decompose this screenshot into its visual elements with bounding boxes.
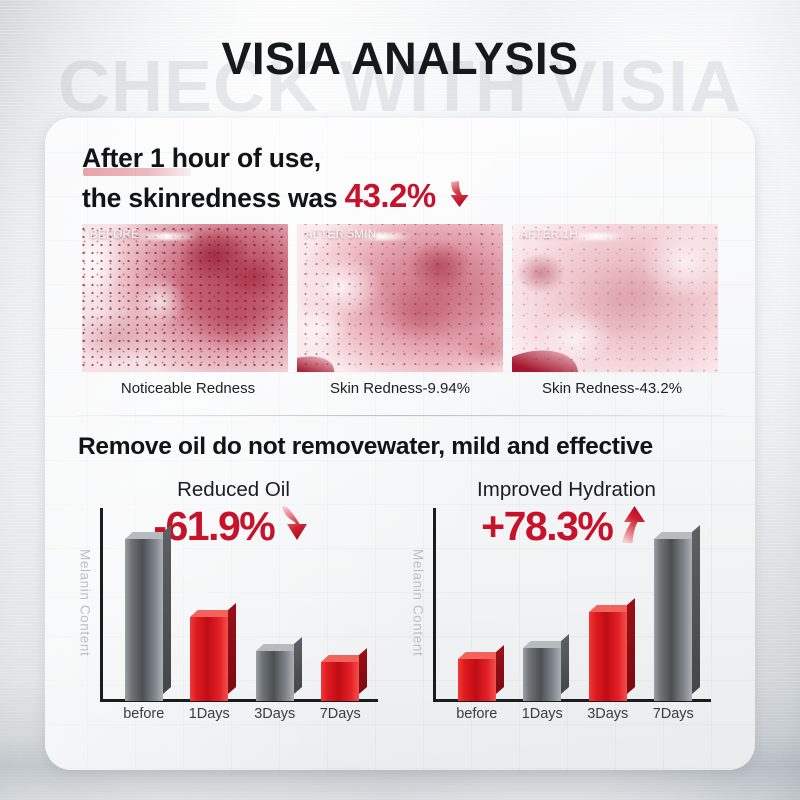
section-divider bbox=[77, 415, 725, 416]
chart-y-axis-label: Melanin Content bbox=[410, 514, 426, 692]
visia-panel-badge: AFTER 1H bbox=[520, 229, 578, 241]
chart-bar-side bbox=[359, 648, 367, 694]
visia-caption-after-1h: Skin Redness-43.2% bbox=[506, 380, 718, 397]
chart-x-tick-labels: before1Days3Days7Days bbox=[111, 706, 373, 722]
chart-x-tick-label: 3Days bbox=[247, 706, 303, 722]
visia-caption-before: Noticeable Redness bbox=[82, 380, 294, 397]
chart-bar-side bbox=[496, 645, 504, 694]
chart-bar-slot bbox=[247, 508, 303, 701]
visia-panel-before[interactable]: BEFORE bbox=[82, 224, 288, 372]
chart-improved-hydration: Improved Hydration +78.3% bbox=[400, 478, 733, 748]
chart-x-tick-labels: before1Days3Days7Days bbox=[444, 706, 706, 722]
chart-y-axis-line bbox=[433, 508, 436, 701]
chart-bar-face bbox=[654, 539, 692, 701]
visia-panel-after-1h[interactable]: AFTER 1H bbox=[512, 224, 718, 372]
chart-bars-group bbox=[111, 508, 373, 701]
chart-bar-face bbox=[589, 612, 627, 701]
chart-bar bbox=[523, 648, 561, 701]
sub-headline: Remove oil do not removewater, mild and … bbox=[78, 433, 653, 461]
skin-redness-after-1h-image bbox=[512, 224, 718, 372]
chart-bar-face bbox=[523, 648, 561, 701]
chart-bar-side bbox=[228, 603, 236, 694]
chart-x-tick-label: 1Days bbox=[181, 706, 237, 722]
visia-panel-after-5min[interactable]: AFTER 5MIN bbox=[297, 224, 503, 372]
skin-redness-after-5min-image bbox=[297, 224, 503, 372]
chart-bar-side bbox=[692, 525, 700, 694]
chart-bar-face bbox=[321, 662, 359, 701]
chart-reduced-oil: Reduced Oil -61.9% bbox=[67, 478, 400, 748]
headline-percent-value: 43.2% bbox=[345, 177, 436, 214]
chart-plot-area: Melanin Content before1Days3Days7Days bbox=[67, 506, 400, 748]
skin-speckle-layer bbox=[82, 224, 288, 372]
chart-bar bbox=[458, 659, 496, 701]
visia-panel-badge: AFTER 5MIN bbox=[305, 229, 376, 241]
chart-bar-side bbox=[294, 637, 302, 694]
chart-x-tick-label: before bbox=[449, 706, 505, 722]
chart-bar-face bbox=[458, 659, 496, 701]
chart-bar bbox=[190, 617, 228, 701]
chart-x-tick-label: 7Days bbox=[312, 706, 368, 722]
chart-title: Improved Hydration bbox=[400, 478, 733, 502]
chart-y-axis-line bbox=[100, 508, 103, 701]
chart-bar bbox=[589, 612, 627, 701]
chart-bar-face bbox=[190, 617, 228, 701]
chart-bar-slot bbox=[312, 508, 368, 701]
skin-speckle-layer bbox=[297, 224, 503, 372]
chart-bar bbox=[321, 662, 359, 701]
headline-block: After 1 hour of use, the skinredness was… bbox=[82, 141, 722, 219]
visia-caption-after-5min: Skin Redness-9.94% bbox=[294, 380, 506, 397]
chart-bar-face bbox=[256, 651, 294, 701]
chart-x-tick-label: before bbox=[116, 706, 172, 722]
chart-x-tick-label: 3Days bbox=[580, 706, 636, 722]
visia-captions-row: Noticeable Redness Skin Redness-9.94% Sk… bbox=[82, 380, 718, 397]
chart-bar-slot bbox=[514, 508, 570, 701]
headline-line-2-text: the skinredness was bbox=[82, 183, 337, 213]
chart-x-tick-label: 1Days bbox=[514, 706, 570, 722]
chart-bar-face bbox=[125, 539, 163, 701]
chart-title: Reduced Oil bbox=[67, 478, 400, 502]
visia-panel-badge: BEFORE bbox=[90, 229, 139, 241]
headline-line-2: the skinredness was 43.2% bbox=[82, 175, 722, 218]
chart-bar-slot bbox=[449, 508, 505, 701]
chart-bar-slot bbox=[580, 508, 636, 701]
skin-highlight-streak bbox=[136, 233, 198, 240]
chart-bar-slot bbox=[116, 508, 172, 701]
chart-bar-slot bbox=[645, 508, 701, 701]
chart-bar-side bbox=[163, 525, 171, 694]
chart-bar bbox=[654, 539, 692, 701]
skin-redness-before-image bbox=[82, 224, 288, 372]
chart-bar bbox=[256, 651, 294, 701]
headline-line-1: After 1 hour of use, bbox=[82, 141, 722, 175]
charts-row: Reduced Oil -61.9% bbox=[67, 478, 733, 748]
chart-bar-slot bbox=[181, 508, 237, 701]
chart-bar-side bbox=[627, 598, 635, 694]
chart-bar bbox=[125, 539, 163, 701]
chart-y-axis-label: Melanin Content bbox=[77, 514, 93, 692]
visia-image-strip: BEFORE AFTER 5MIN AFTER 1H bbox=[82, 224, 718, 372]
analysis-card: After 1 hour of use, the skinredness was… bbox=[45, 118, 755, 770]
chart-x-tick-label: 7Days bbox=[645, 706, 701, 722]
chart-bar-side bbox=[561, 634, 569, 694]
page-title: VISIA ANALYSIS bbox=[0, 33, 800, 85]
arrow-down-curved-icon bbox=[447, 180, 473, 218]
chart-bars-group bbox=[444, 508, 706, 701]
chart-plot-area: Melanin Content before1Days3Days7Days bbox=[400, 506, 733, 748]
